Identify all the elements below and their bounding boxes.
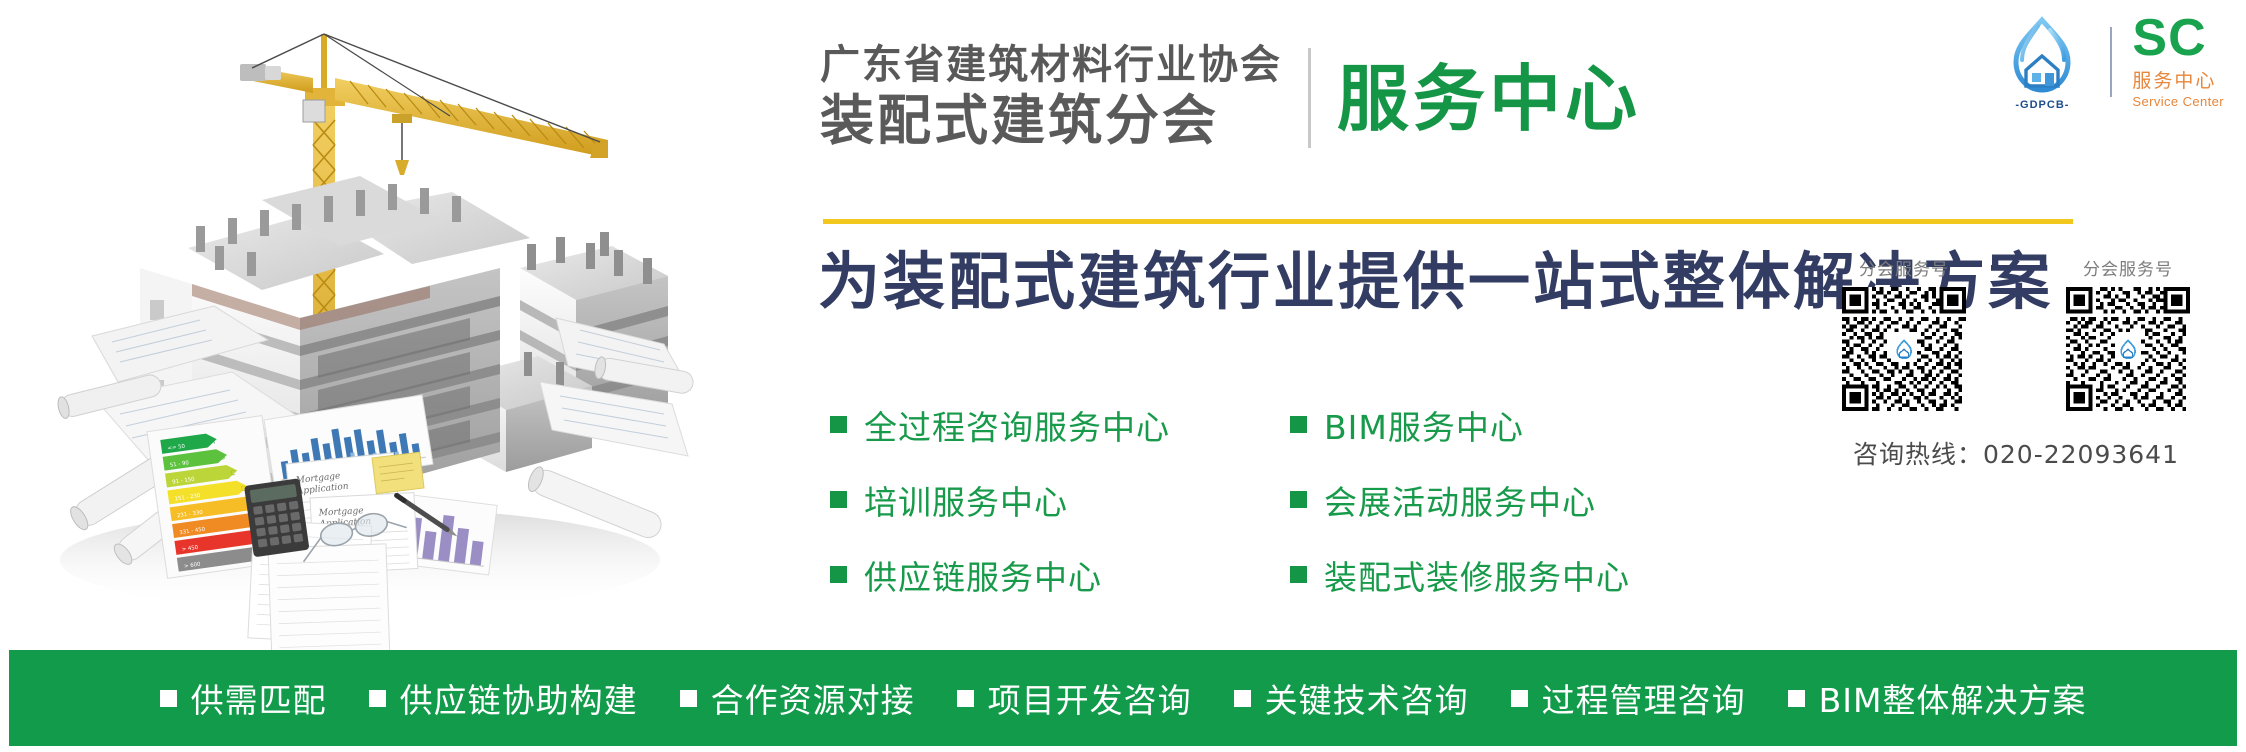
service-list-left: 全过程咨询服务中心 培训服务中心 供应链服务中心 xyxy=(830,400,1170,625)
footer-item[interactable]: 供应链协助构建 xyxy=(369,674,638,722)
sc-logo-letters: SC xyxy=(2132,14,2206,63)
square-bullet-icon xyxy=(160,690,177,707)
footer-item[interactable]: 关键技术咨询 xyxy=(1234,674,1469,722)
footer-item[interactable]: BIM整体解决方案 xyxy=(1788,674,2087,722)
service-center-title: 服务中心 xyxy=(1337,60,1641,139)
service-item[interactable]: 全过程咨询服务中心 xyxy=(830,400,1170,449)
square-bullet-icon xyxy=(1511,690,1528,707)
footer-item-label: 供需匹配 xyxy=(191,674,327,722)
square-bullet-icon xyxy=(369,690,386,707)
square-bullet-icon xyxy=(830,491,847,508)
title-row: 广东省建筑材料行业协会 装配式建筑分会 服务中心 xyxy=(820,42,1641,152)
footer-service-bar: 供需匹配 供应链协助构建 合作资源对接 项目开发咨询 关键技术咨询 过程管理咨询… xyxy=(9,650,2237,746)
square-bullet-icon xyxy=(830,566,847,583)
association-name-line2: 装配式建筑分会 xyxy=(820,91,1282,151)
square-bullet-icon xyxy=(680,690,697,707)
square-bullet-icon xyxy=(1290,566,1307,583)
footer-item-label: 合作资源对接 xyxy=(711,674,915,722)
sc-logo-block: SC 服务中心 Service Center xyxy=(2132,14,2224,109)
service-item-label: 全过程咨询服务中心 xyxy=(864,401,1170,449)
footer-item-label: 关键技术咨询 xyxy=(1265,674,1469,722)
footer-item-label: 项目开发咨询 xyxy=(988,674,1192,722)
footer-item[interactable]: 供需匹配 xyxy=(160,674,327,722)
square-bullet-icon xyxy=(830,416,847,433)
service-item-label: 会展活动服务中心 xyxy=(1324,476,1596,524)
service-item[interactable]: 供应链服务中心 xyxy=(830,550,1170,599)
qr-code-icon[interactable] xyxy=(1842,287,1966,411)
yellow-divider-rule xyxy=(823,219,2073,224)
service-item[interactable]: 会展活动服务中心 xyxy=(1290,475,1630,524)
service-item-label: 装配式装修服务中心 xyxy=(1324,551,1630,599)
footer-item-label: 供应链协助构建 xyxy=(400,674,638,722)
logo-cluster: -GDPCB- SC 服务中心 Service Center xyxy=(1994,14,2224,109)
qr-code-icon[interactable] xyxy=(2066,287,2190,411)
square-bullet-icon xyxy=(1234,690,1251,707)
qr-code-caption: 分会服务号 xyxy=(2083,255,2173,280)
service-item[interactable]: BIM服务中心 xyxy=(1290,400,1630,449)
square-bullet-icon xyxy=(1290,491,1307,508)
square-bullet-icon xyxy=(957,690,974,707)
footer-item-label: 过程管理咨询 xyxy=(1542,674,1746,722)
hotline-text: 咨询热线：020-22093641 xyxy=(1816,435,2216,471)
construction-scene-graphic: A B C D E F G H <= 5051 - 90 91 - 150151… xyxy=(0,0,700,650)
footer-item[interactable]: 项目开发咨询 xyxy=(957,674,1192,722)
footer-item-label: BIM整体解决方案 xyxy=(1819,674,2087,722)
service-item-label: BIM服务中心 xyxy=(1324,401,1524,449)
hero-illustration: A B C D E F G H <= 5051 - 90 91 - 150151… xyxy=(0,0,700,650)
title-divider xyxy=(1308,48,1311,148)
service-list-right: BIM服务中心 会展活动服务中心 装配式装修服务中心 xyxy=(1290,400,1630,625)
logo-mark-caption: -GDPCB- xyxy=(1994,99,2090,111)
promotional-banner: A B C D E F G H <= 5051 - 90 91 - 150151… xyxy=(0,0,2246,752)
qr-code-block: 分会服务号 xyxy=(1816,255,2216,471)
qr-code-cell: 分会服务号 xyxy=(1816,255,1992,411)
footer-item[interactable]: 合作资源对接 xyxy=(680,674,915,722)
sticky-note-graphic xyxy=(372,452,424,494)
logo-separator xyxy=(2110,27,2112,97)
gdpcb-flame-house-icon: -GDPCB- xyxy=(1994,16,2090,108)
association-name-line1: 广东省建筑材料行业协会 xyxy=(820,42,1282,89)
calculator-graphic xyxy=(244,478,309,557)
service-item-label: 培训服务中心 xyxy=(864,476,1068,524)
footer-item[interactable]: 过程管理咨询 xyxy=(1511,674,1746,722)
sc-logo-cn-label: 服务中心 xyxy=(2132,66,2216,93)
qr-code-cell: 分会服务号 xyxy=(2040,255,2216,411)
square-bullet-icon xyxy=(1290,416,1307,433)
square-bullet-icon xyxy=(1788,690,1805,707)
service-item[interactable]: 装配式装修服务中心 xyxy=(1290,550,1630,599)
qr-code-caption: 分会服务号 xyxy=(1859,255,1949,280)
sc-logo-en-label: Service Center xyxy=(2132,94,2224,109)
association-name-block: 广东省建筑材料行业协会 装配式建筑分会 xyxy=(820,42,1282,152)
service-item-label: 供应链服务中心 xyxy=(864,551,1102,599)
qr-code-row: 分会服务号 xyxy=(1816,255,2216,411)
content-area: 广东省建筑材料行业协会 装配式建筑分会 服务中心 为装配式建筑行业提供一站式整体… xyxy=(700,0,2246,650)
service-item[interactable]: 培训服务中心 xyxy=(830,475,1170,524)
